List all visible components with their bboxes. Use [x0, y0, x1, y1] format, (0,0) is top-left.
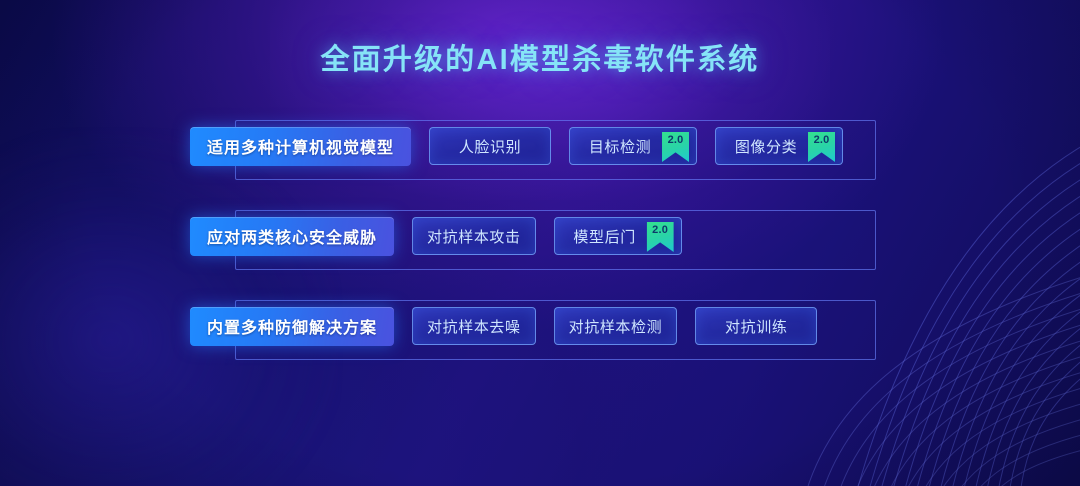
feature-chip[interactable]: 对抗样本去噪 [412, 307, 536, 345]
feature-chip-label: 对抗样本去噪 [427, 316, 521, 337]
feature-row: 适用多种计算机视觉模型 人脸识别 目标检测 2.0 图像分类 2.0 [0, 112, 1080, 180]
page-title: 全面升级的AI模型杀毒软件系统 [320, 36, 759, 78]
feature-chip-label: 图像分类 [735, 136, 797, 157]
row-label-button[interactable]: 内置多种防御解决方案 [190, 307, 394, 346]
version-badge-icon: 2.0 [808, 132, 835, 162]
feature-chip-label: 对抗样本攻击 [427, 226, 521, 247]
row-content: 内置多种防御解决方案 对抗样本去噪 对抗样本检测 对抗训练 [190, 292, 817, 360]
feature-chip-label: 对抗样本检测 [569, 316, 663, 337]
feature-chip[interactable]: 目标检测 2.0 [569, 127, 697, 165]
feature-chip-label: 对抗训练 [725, 316, 787, 337]
feature-chip-label: 人脸识别 [459, 136, 521, 157]
feature-row: 应对两类核心安全威胁 对抗样本攻击 模型后门 2.0 [0, 202, 1080, 270]
row-content: 应对两类核心安全威胁 对抗样本攻击 模型后门 2.0 [190, 202, 682, 270]
feature-row: 内置多种防御解决方案 对抗样本去噪 对抗样本检测 对抗训练 [0, 292, 1080, 360]
version-badge-icon: 2.0 [662, 132, 689, 162]
slide-canvas: 全面升级的AI模型杀毒软件系统 适用多种计算机视觉模型 人脸识别 目标检测 2.… [0, 0, 1080, 486]
row-label-button[interactable]: 应对两类核心安全威胁 [190, 217, 394, 256]
feature-rows: 适用多种计算机视觉模型 人脸识别 目标检测 2.0 图像分类 2.0 [0, 112, 1080, 382]
feature-chip[interactable]: 人脸识别 [429, 127, 551, 165]
row-content: 适用多种计算机视觉模型 人脸识别 目标检测 2.0 图像分类 2.0 [190, 112, 843, 180]
version-badge-label: 2.0 [652, 225, 668, 236]
feature-chip[interactable]: 模型后门 2.0 [554, 217, 682, 255]
row-label-button[interactable]: 适用多种计算机视觉模型 [190, 127, 411, 166]
version-badge-label: 2.0 [814, 135, 830, 146]
version-badge-icon: 2.0 [647, 222, 674, 252]
feature-chip[interactable]: 对抗样本检测 [554, 307, 678, 345]
feature-chip-label: 目标检测 [589, 136, 651, 157]
feature-chip[interactable]: 图像分类 2.0 [715, 127, 843, 165]
feature-chip-label: 模型后门 [573, 226, 635, 247]
version-badge-label: 2.0 [668, 135, 684, 146]
feature-chip[interactable]: 对抗训练 [695, 307, 817, 345]
feature-chip[interactable]: 对抗样本攻击 [412, 217, 536, 255]
page-title-container: 全面升级的AI模型杀毒软件系统 [0, 36, 1080, 78]
